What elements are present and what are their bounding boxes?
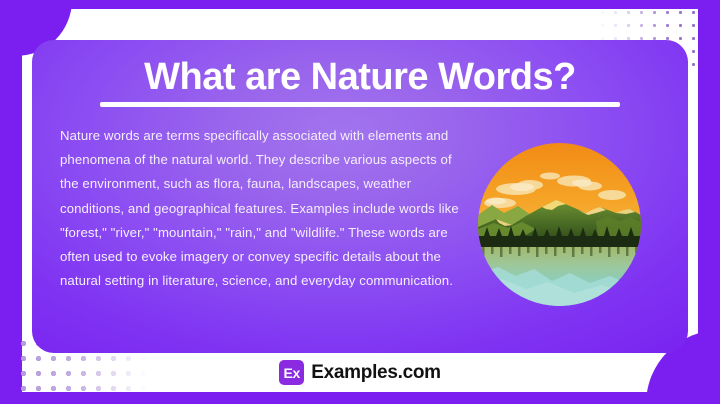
nature-landscape-image	[478, 143, 641, 306]
examples-logo-text: Examples.com	[311, 362, 440, 384]
poster-canvas: What are Nature Words? Nature words are …	[0, 0, 720, 404]
frame-border-bottom	[0, 392, 720, 404]
content-card: What are Nature Words? Nature words are …	[32, 40, 688, 353]
page-title: What are Nature Words?	[32, 56, 688, 99]
body-paragraph: Nature words are terms specifically asso…	[60, 124, 460, 293]
title-underline	[100, 102, 620, 107]
footer-branding: Ex Examples.com	[0, 360, 720, 385]
landscape-illustration-icon	[478, 143, 641, 306]
examples-logo-mark-icon: Ex	[279, 360, 304, 385]
